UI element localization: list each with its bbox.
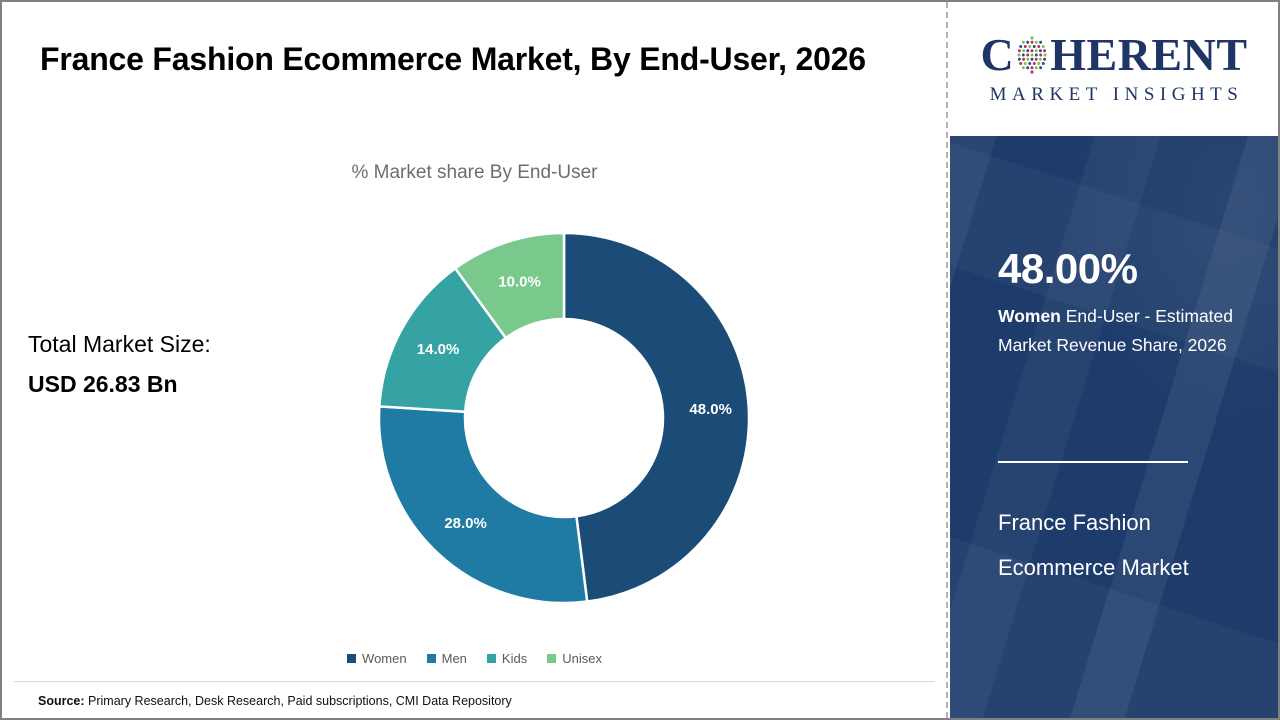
sidebar-stat-highlight: Women [998,306,1061,326]
legend-item-kids[interactable]: Kids [487,651,527,666]
left-content-panel: France Fashion Ecommerce Market, By End-… [2,2,947,718]
sidebar-stat: 48.00% Women End-User - Estimated Market… [998,248,1248,360]
total-market-size-block: Total Market Size: USD 26.83 Bn [28,324,328,405]
total-market-size-label: Total Market Size: [28,324,328,364]
panel-dashed-divider [946,2,948,718]
donut-label-unisex: 10.0% [498,273,541,290]
donut-chart-svg: 48.0%28.0%14.0%10.0% [378,232,750,604]
legend-label-women: Women [362,651,407,666]
donut-label-men: 28.0% [444,515,487,532]
right-sidebar: C HERENT MARKET INSIGHTS 48.00% Women En… [950,2,1278,718]
donut-slice-men[interactable] [379,406,587,603]
brand-logo[interactable]: C HERENT MARKET INSIGHTS [950,2,1278,136]
source-note: Source: Primary Research, Desk Research,… [38,694,512,708]
chart-subtitle: % Market share By End-User [2,162,947,184]
legend-item-women[interactable]: Women [347,651,407,666]
globe-dots-icon [1015,35,1049,75]
sidebar-divider [998,461,1188,463]
sidebar-market-name: France Fashion Ecommerce Market [998,500,1238,590]
donut-label-women: 48.0% [689,401,732,418]
legend-item-men[interactable]: Men [427,651,467,666]
donut-chart: 48.0%28.0%14.0%10.0% [378,232,750,604]
donut-label-kids: 14.0% [417,341,460,358]
legend-label-kids: Kids [502,651,527,666]
logo-wordmark: C HERENT [981,32,1248,78]
infographic-canvas: France Fashion Ecommerce Market, By End-… [0,0,1280,720]
legend-label-men: Men [442,651,467,666]
logo-letters-herent: HERENT [1050,32,1247,78]
total-market-size-value: USD 26.83 Bn [28,364,328,404]
source-label: Source: [38,694,85,708]
legend-swatch-women [347,654,356,663]
legend-swatch-unisex [547,654,556,663]
page-title: France Fashion Ecommerce Market, By End-… [40,35,920,85]
legend-swatch-men [427,654,436,663]
logo-letter-c: C [981,32,1015,78]
logo-tagline: MARKET INSIGHTS [985,84,1244,106]
legend-swatch-kids [487,654,496,663]
sidebar-stat-value: 48.00% [998,248,1248,290]
chart-legend: WomenMenKidsUnisex [2,651,947,666]
legend-label-unisex: Unisex [562,651,602,666]
sidebar-stat-description: Women End-User - Estimated Market Revenu… [998,302,1248,360]
legend-item-unisex[interactable]: Unisex [547,651,602,666]
donut-slice-group [379,233,749,603]
footer-divider [14,681,935,682]
source-text: Primary Research, Desk Research, Paid su… [88,694,512,708]
